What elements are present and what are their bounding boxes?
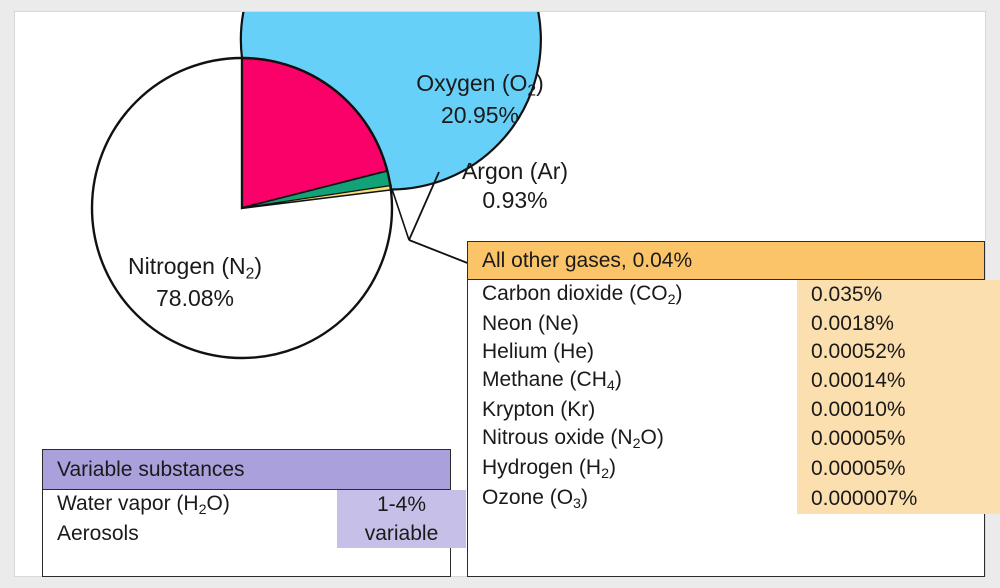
- row-name-cell: Neon (Ne): [468, 310, 797, 338]
- pie-label-nitrogen-name: Nitrogen (N2): [128, 253, 262, 279]
- table-row: Water vapor (H2O)1-4%: [43, 490, 466, 520]
- row-name-cell: Helium (He): [468, 338, 797, 366]
- pie-label-oxygen: Oxygen (O2) 20.95%: [370, 69, 590, 129]
- pie-label-argon-percent: 0.93%: [482, 187, 547, 213]
- pie-label-oxygen-name: Oxygen (O2): [416, 70, 544, 96]
- row-value-cell: 0.00052%: [797, 338, 1000, 366]
- row-value-cell: 0.00005%: [797, 454, 1000, 484]
- subscript: 4: [607, 378, 615, 394]
- leader-line-other-gases: [409, 240, 470, 264]
- subscript: 2: [633, 436, 641, 452]
- row-name-cell: Ozone (O3): [468, 484, 797, 514]
- pie-label-oxygen-percent: 20.95%: [441, 102, 519, 128]
- pie-label-nitrogen-percent: 78.08%: [156, 285, 234, 311]
- row-name-cell: Carbon dioxide (CO2): [468, 280, 797, 310]
- all-other-gases-header: All other gases, 0.04%: [468, 242, 984, 280]
- table-row: Neon (Ne)0.0018%: [468, 310, 1000, 338]
- table-row: Ozone (O3)0.000007%: [468, 484, 1000, 514]
- row-value-cell: 0.00014%: [797, 366, 1000, 396]
- pie-label-argon-name: Argon (Ar): [462, 158, 568, 184]
- subscript: 2: [199, 502, 207, 518]
- variable-substances-body: Water vapor (H2O)1-4%Aerosolsvariable: [43, 490, 450, 548]
- subscript: 2: [668, 292, 676, 308]
- figure-panel: Nitrogen (N2) 78.08% Oxygen (O2) 20.95% …: [14, 11, 986, 577]
- row-name-cell: Krypton (Kr): [468, 396, 797, 424]
- table-row: Aerosolsvariable: [43, 520, 466, 548]
- all-other-gases-table: All other gases, 0.04% Carbon dioxide (C…: [467, 241, 985, 577]
- pie-label-argon: Argon (Ar) 0.93%: [415, 157, 615, 214]
- row-name-cell: Nitrous oxide (N2O): [468, 424, 797, 454]
- row-value-cell: 1-4%: [337, 490, 466, 520]
- table-row: Carbon dioxide (CO2)0.035%: [468, 280, 1000, 310]
- variable-substances-table: Variable substances Water vapor (H2O)1-4…: [42, 449, 451, 577]
- row-name-cell: Hydrogen (H2): [468, 454, 797, 484]
- table-row: Krypton (Kr)0.00010%: [468, 396, 1000, 424]
- subscript: 2: [601, 466, 609, 482]
- table-row: Helium (He)0.00052%: [468, 338, 1000, 366]
- row-name-cell: Water vapor (H2O): [43, 490, 337, 520]
- row-name-cell: Aerosols: [43, 520, 337, 548]
- row-value-cell: 0.035%: [797, 280, 1000, 310]
- table-row: Hydrogen (H2)0.00005%: [468, 454, 1000, 484]
- row-value-cell: 0.00010%: [797, 396, 1000, 424]
- pie-label-nitrogen: Nitrogen (N2) 78.08%: [70, 252, 320, 312]
- table-row: Nitrous oxide (N2O)0.00005%: [468, 424, 1000, 454]
- row-value-cell: 0.0018%: [797, 310, 1000, 338]
- leader-line-stem: [392, 189, 409, 240]
- table-row: Methane (CH4)0.00014%: [468, 366, 1000, 396]
- row-name-cell: Methane (CH4): [468, 366, 797, 396]
- all-other-gases-body: Carbon dioxide (CO2)0.035%Neon (Ne)0.001…: [468, 280, 984, 514]
- row-value-cell: 0.000007%: [797, 484, 1000, 514]
- row-value-cell: 0.00005%: [797, 424, 1000, 454]
- subscript: 3: [573, 496, 581, 512]
- variable-substances-header: Variable substances: [43, 450, 450, 490]
- row-value-cell: variable: [337, 520, 466, 548]
